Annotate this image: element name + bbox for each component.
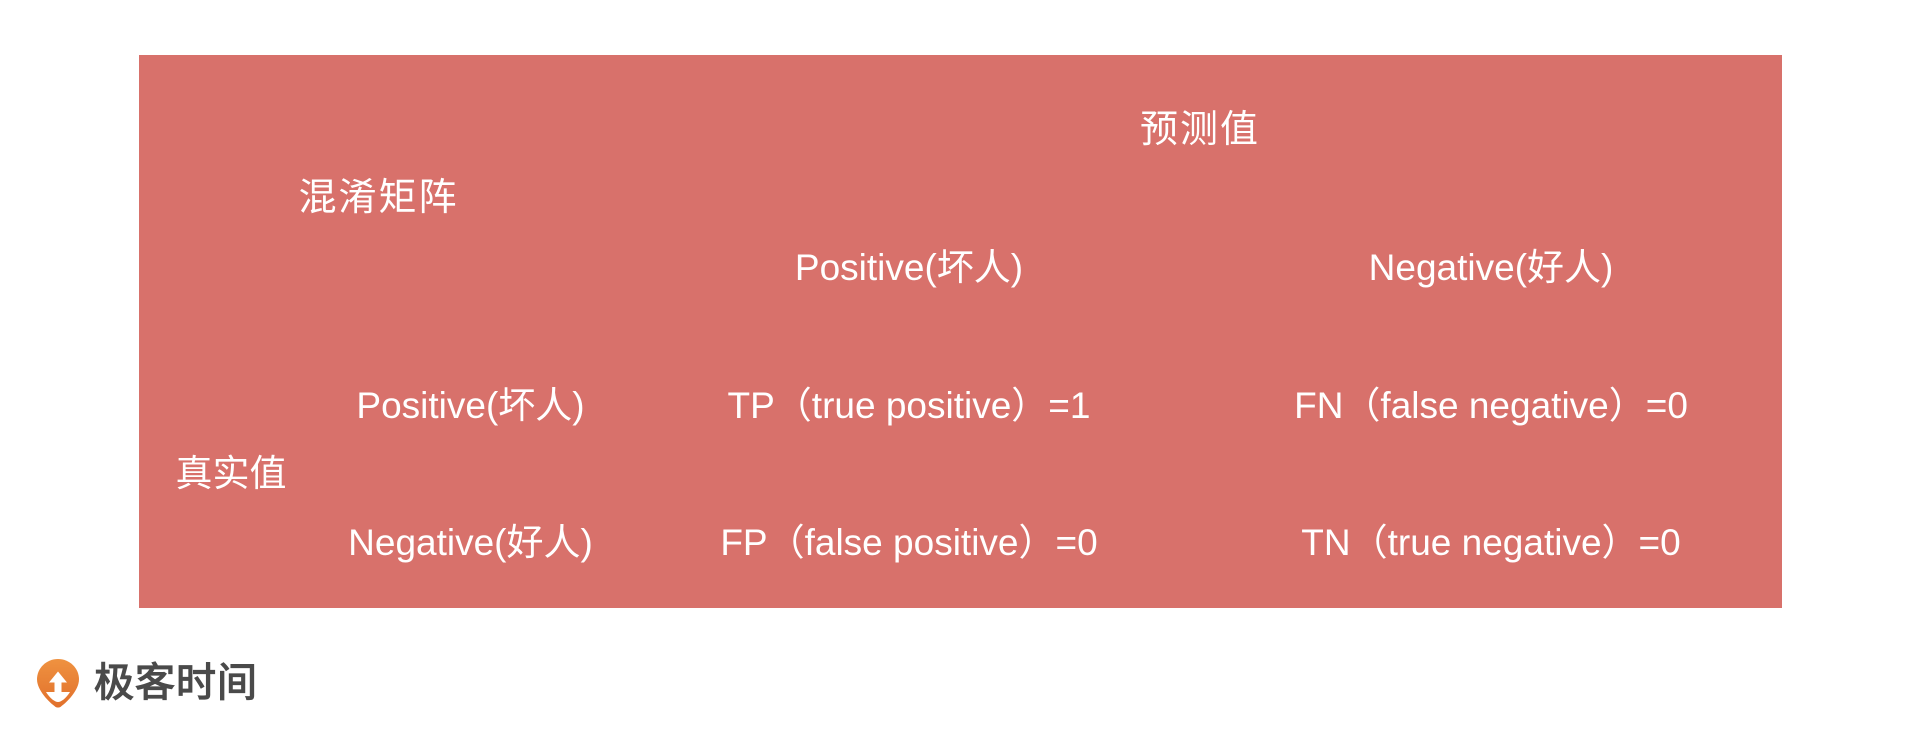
predicted-axis-label: 预测值 [618,55,1782,195]
table-row-actual-negative: Negative(好人) FP（false positive）=0 TN（tru… [139,470,1782,608]
cell-false-negative: FN（false negative）=0 [1200,333,1782,471]
actual-axis-label: 真实值 [139,333,323,608]
confusion-matrix-table: 混淆矩阵 预测值 Positive(坏人) Negative(好人) 真实值 P… [139,55,1782,608]
confusion-matrix-figure: 混淆矩阵 预测值 Positive(坏人) Negative(好人) 真实值 P… [139,55,1782,608]
logo-text: 极客时间 [94,663,258,703]
row-header-positive: Positive(坏人) [323,333,618,471]
cell-true-positive: TP（true positive）=1 [618,333,1200,471]
matrix-corner-title: 混淆矩阵 [139,55,618,333]
geektime-logo: 极客时间 [36,655,258,711]
row-header-negative: Negative(好人) [323,470,618,608]
column-header-positive: Positive(坏人) [618,195,1200,333]
table-row-actual-positive: 真实值 Positive(坏人) TP（true positive）=1 FN（… [139,333,1782,471]
cell-true-negative: TN（true negative）=0 [1200,470,1782,608]
location-pin-icon [36,658,80,708]
table-row-predicted-axis: 混淆矩阵 预测值 [139,55,1782,195]
column-header-negative: Negative(好人) [1200,195,1782,333]
cell-false-positive: FP（false positive）=0 [618,470,1200,608]
